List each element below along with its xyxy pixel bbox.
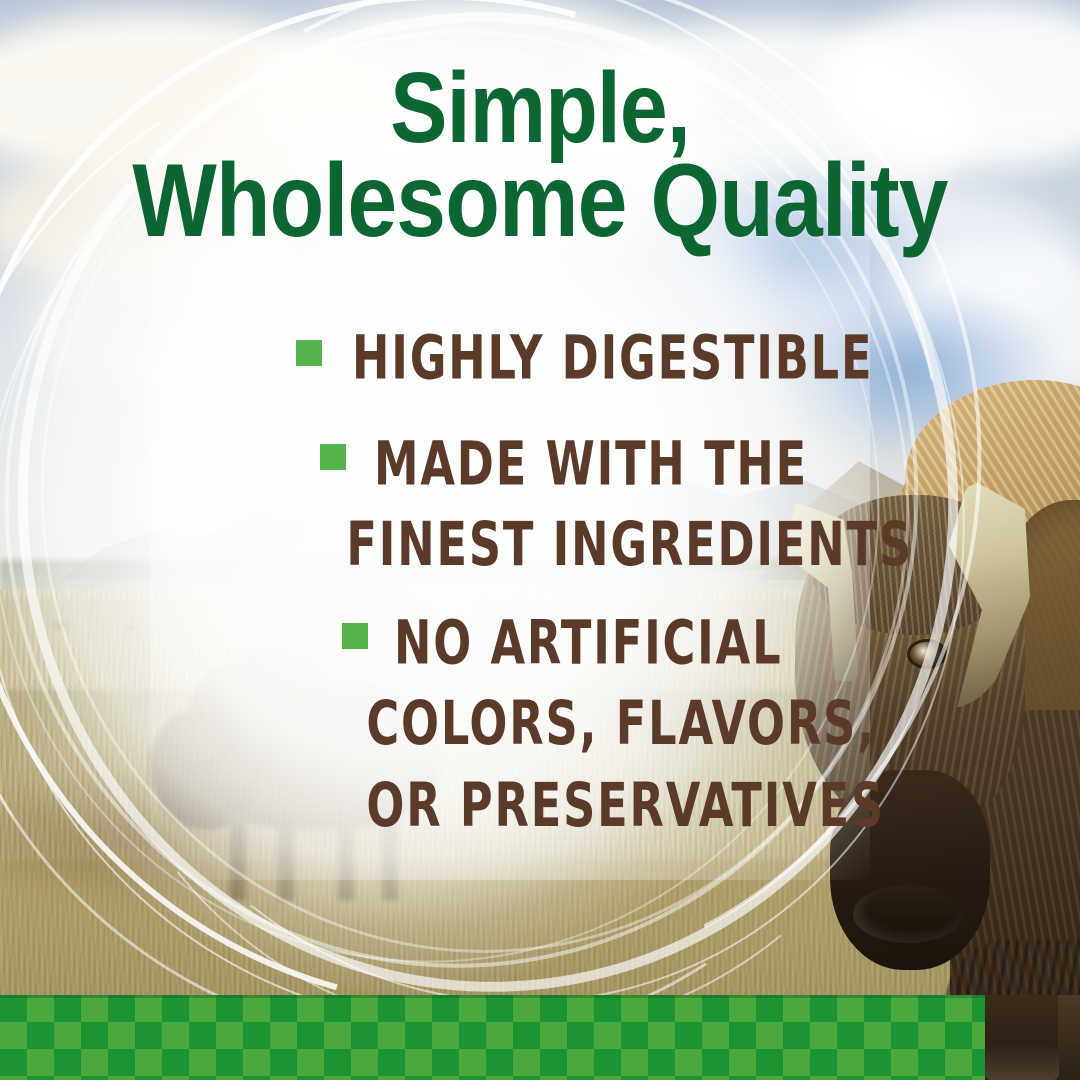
list-item-line: OR PRESERVATIVES xyxy=(366,765,885,846)
footer-edge xyxy=(0,995,1080,998)
list-item-label: MADE WITH THEFINEST INGREDIENTS xyxy=(374,424,913,586)
list-item-line: FINEST INGREDIENTS xyxy=(346,505,912,586)
bullet-square-icon xyxy=(296,340,322,366)
benefits-list: HIGHLY DIGESTIBLE MADE WITH THEFINEST IN… xyxy=(0,318,1080,854)
bison-hoof-overlap xyxy=(985,1046,1059,1080)
list-item-line: COLORS, FLAVORS, xyxy=(366,684,885,765)
list-item: NO ARTIFICIALCOLORS, FLAVORS,OR PRESERVA… xyxy=(0,603,1080,820)
list-item-line: NO ARTIFICIAL xyxy=(394,608,782,679)
list-item-label: NO ARTIFICIALCOLORS, FLAVORS,OR PRESERVA… xyxy=(394,603,885,846)
list-item: MADE WITH THEFINEST INGREDIENTS xyxy=(0,424,1080,569)
promo-graphic: Simple, Wholesome Quality HIGHLY DIGESTI… xyxy=(0,0,1080,1080)
bullet-square-icon xyxy=(342,623,368,649)
list-item-label: HIGHLY DIGESTIBLE xyxy=(352,318,873,399)
checkerboard-footer xyxy=(0,995,1080,1080)
headline: Simple, Wholesome Quality xyxy=(76,62,1005,250)
bullet-square-icon xyxy=(320,444,346,470)
headline-line-1: Simple, xyxy=(76,62,1005,154)
list-item-line: MADE WITH THE xyxy=(374,429,808,500)
headline-line-2: Wholesome Quality xyxy=(76,154,1005,250)
list-item: HIGHLY DIGESTIBLE xyxy=(0,318,1080,390)
bison-leg-overlap xyxy=(1058,995,1080,1080)
